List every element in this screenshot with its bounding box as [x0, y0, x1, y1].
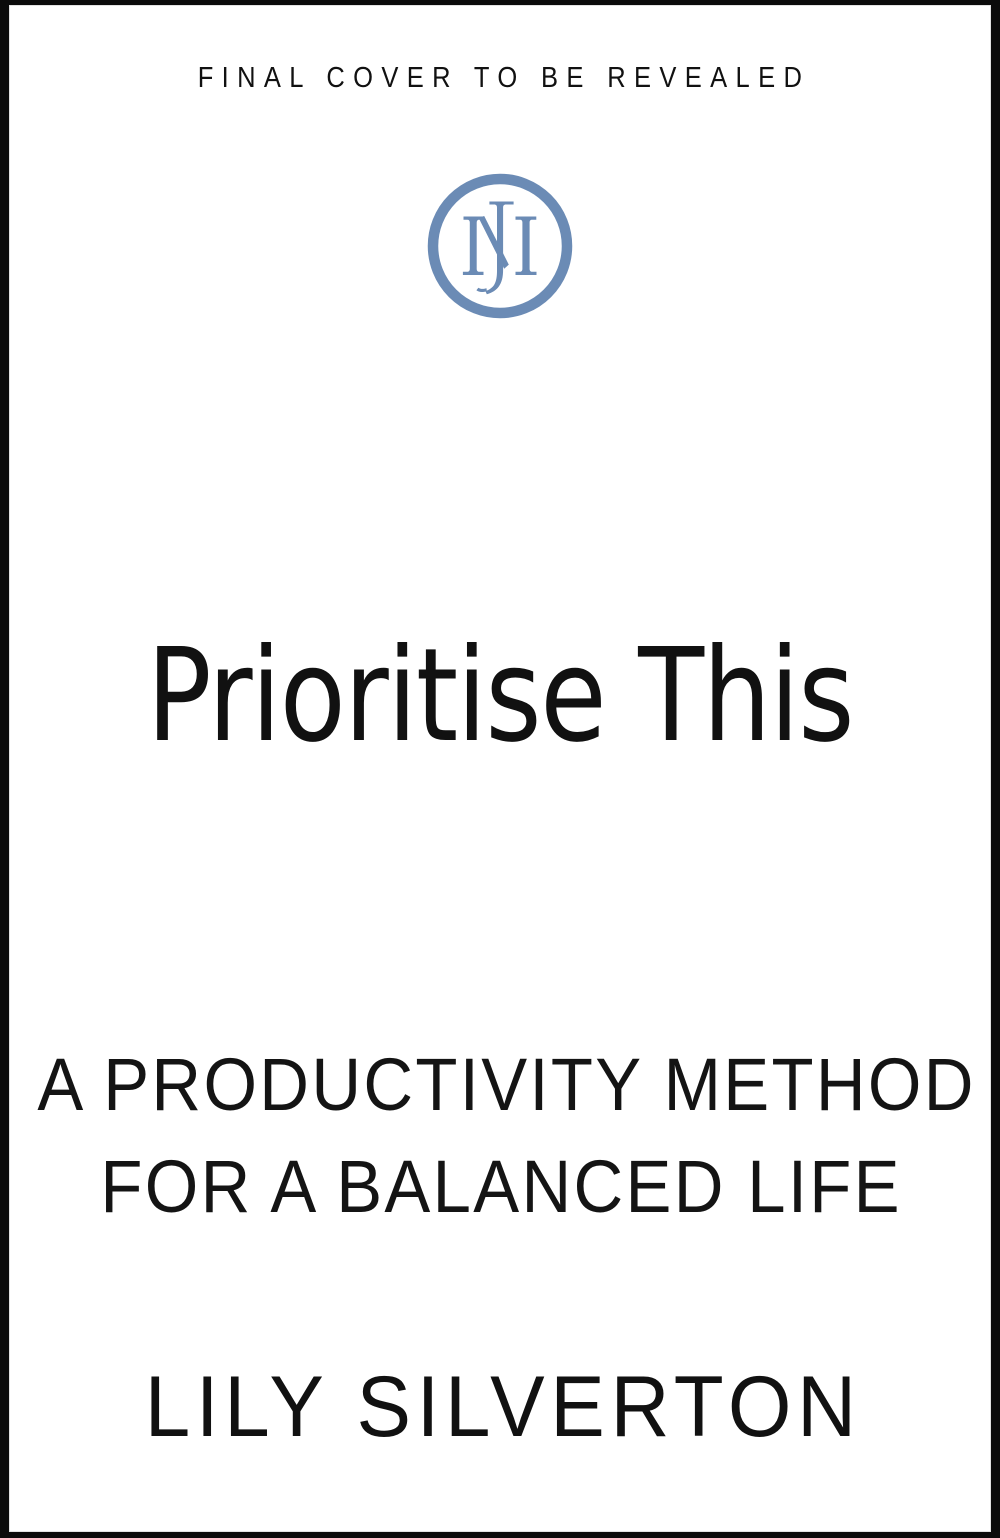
publisher-logo [422, 168, 578, 324]
subtitle-block: A PRODUCTIVITY METHOD FOR A BALANCED LIF… [0, 1034, 1000, 1238]
banner-text: FINAL COVER TO BE REVEALED [190, 62, 811, 95]
subtitle-line-2: FOR A BALANCED LIFE [35, 1136, 965, 1238]
john-murray-monogram-icon [422, 168, 578, 324]
author-name: LILY SILVERTON [139, 1358, 862, 1457]
title-block: Prioritise This [0, 628, 1000, 765]
book-title: Prioritise This [147, 628, 854, 765]
subtitle-line-1: A PRODUCTIVITY METHOD [35, 1034, 965, 1136]
banner: FINAL COVER TO BE REVEALED [0, 62, 1000, 95]
author-block: LILY SILVERTON [0, 1358, 1000, 1457]
book-cover: FINAL COVER TO BE REVEALED [0, 0, 1000, 1538]
